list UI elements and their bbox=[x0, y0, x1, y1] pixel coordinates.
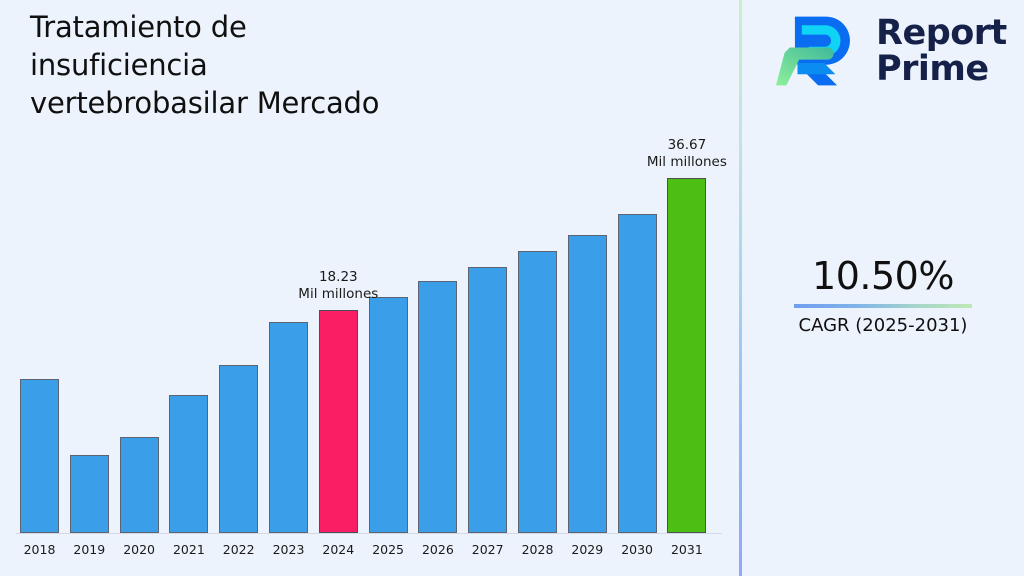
brand-logo: Report Prime bbox=[776, 8, 1007, 94]
bar-2026 bbox=[418, 281, 457, 533]
x-tick-2031: 2031 bbox=[659, 541, 714, 559]
plot-area: 2018201920202021202220232024202520262027… bbox=[0, 0, 739, 576]
bar-2021 bbox=[169, 395, 208, 533]
x-axis-line bbox=[16, 533, 722, 534]
bar-2029 bbox=[568, 235, 607, 533]
brand-wordmark: Report Prime bbox=[876, 15, 1007, 87]
x-tick-2026: 2026 bbox=[410, 541, 465, 559]
value-annotation-2031: 36.67Mil millones bbox=[622, 137, 751, 171]
x-tick-2024: 2024 bbox=[311, 541, 366, 559]
cagr-block: 10.50% CAGR (2025-2031) bbox=[742, 253, 1024, 338]
cagr-value: 10.50% bbox=[742, 253, 1024, 299]
bar-2025 bbox=[369, 297, 408, 533]
bar-2023 bbox=[269, 322, 308, 533]
annotation-value: 36.67 bbox=[622, 137, 751, 154]
bar-2024 bbox=[319, 310, 358, 533]
annotation-unit: Mil millones bbox=[622, 154, 751, 171]
bar-2020 bbox=[120, 437, 159, 533]
annotation-value: 18.23 bbox=[274, 269, 403, 286]
x-tick-2020: 2020 bbox=[112, 541, 167, 559]
brand-line-1: Report bbox=[876, 13, 1007, 53]
chart-panel: Tratamiento de insuficiencia vertebrobas… bbox=[0, 0, 739, 576]
report-prime-r-logo-icon bbox=[776, 8, 862, 94]
x-tick-2029: 2029 bbox=[560, 541, 615, 559]
x-tick-2030: 2030 bbox=[610, 541, 665, 559]
bar-2019 bbox=[70, 455, 109, 533]
value-annotation-2024: 18.23Mil millones bbox=[274, 269, 403, 303]
chart-infographic: Tratamiento de insuficiencia vertebrobas… bbox=[0, 0, 1024, 576]
bar-2031 bbox=[667, 178, 706, 533]
brand-line-2: Prime bbox=[876, 49, 989, 89]
brand-panel: Report Prime 10.50% CAGR (2025-2031) bbox=[742, 0, 1024, 576]
x-tick-2021: 2021 bbox=[161, 541, 216, 559]
x-tick-2028: 2028 bbox=[510, 541, 565, 559]
bar-2027 bbox=[468, 267, 507, 533]
x-tick-2018: 2018 bbox=[12, 541, 67, 559]
cagr-caption: CAGR (2025-2031) bbox=[742, 314, 1024, 338]
x-tick-2027: 2027 bbox=[460, 541, 515, 559]
x-tick-2022: 2022 bbox=[211, 541, 266, 559]
x-tick-2023: 2023 bbox=[261, 541, 316, 559]
x-tick-2019: 2019 bbox=[62, 541, 117, 559]
bar-2030 bbox=[618, 214, 657, 533]
bar-2018 bbox=[20, 379, 59, 533]
cagr-divider-rule bbox=[794, 304, 972, 308]
annotation-unit: Mil millones bbox=[274, 286, 403, 303]
bar-2022 bbox=[219, 365, 258, 533]
x-tick-2025: 2025 bbox=[361, 541, 416, 559]
bar-2028 bbox=[518, 251, 557, 533]
